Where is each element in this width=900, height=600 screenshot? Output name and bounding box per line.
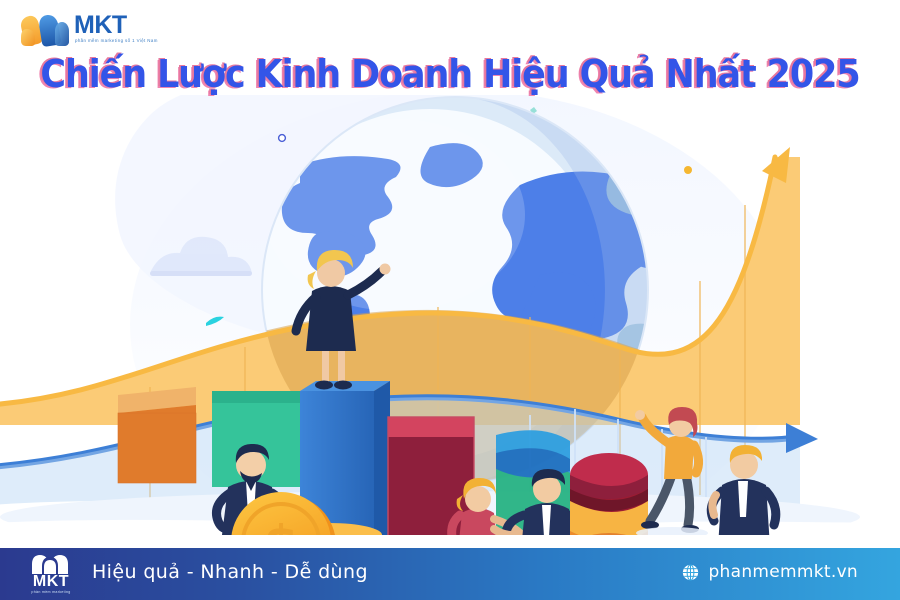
footer-slogan: Hiệu quả - Nhanh - Dễ dùng xyxy=(92,561,368,583)
mkt-triple-arch-logo-icon xyxy=(18,10,70,48)
page-title: Chiến Lược Kinh Doanh Hiệu Quả Nhất 2025 xyxy=(36,52,864,96)
globe-icon xyxy=(682,564,699,581)
footer-brand-tagline: phần mềm marketing xyxy=(24,590,78,594)
footer-bar: MKT phần mềm marketing Hiệu quả - Nhanh … xyxy=(0,548,900,600)
dot-decor xyxy=(684,166,692,174)
brand-tagline: phần mềm marketing số 1 Việt Nam xyxy=(75,38,158,43)
hero-illustration: $ xyxy=(0,95,900,550)
footer-brand-logo[interactable]: MKT phần mềm marketing xyxy=(22,554,78,596)
dot-decor xyxy=(279,135,286,142)
cardboard-box xyxy=(118,387,196,483)
poster-canvas: MKT phần mềm marketing số 1 Việt Nam Chi… xyxy=(0,0,900,600)
footer-brand-wordmark: MKT xyxy=(24,574,78,590)
brand-wordmark: MKT xyxy=(74,13,127,38)
brand-logo[interactable]: MKT phần mềm marketing số 1 Việt Nam xyxy=(18,8,168,50)
footer-website-label: phanmemmkt.vn xyxy=(708,562,858,582)
footer-website[interactable]: phanmemmkt.vn xyxy=(682,562,858,582)
